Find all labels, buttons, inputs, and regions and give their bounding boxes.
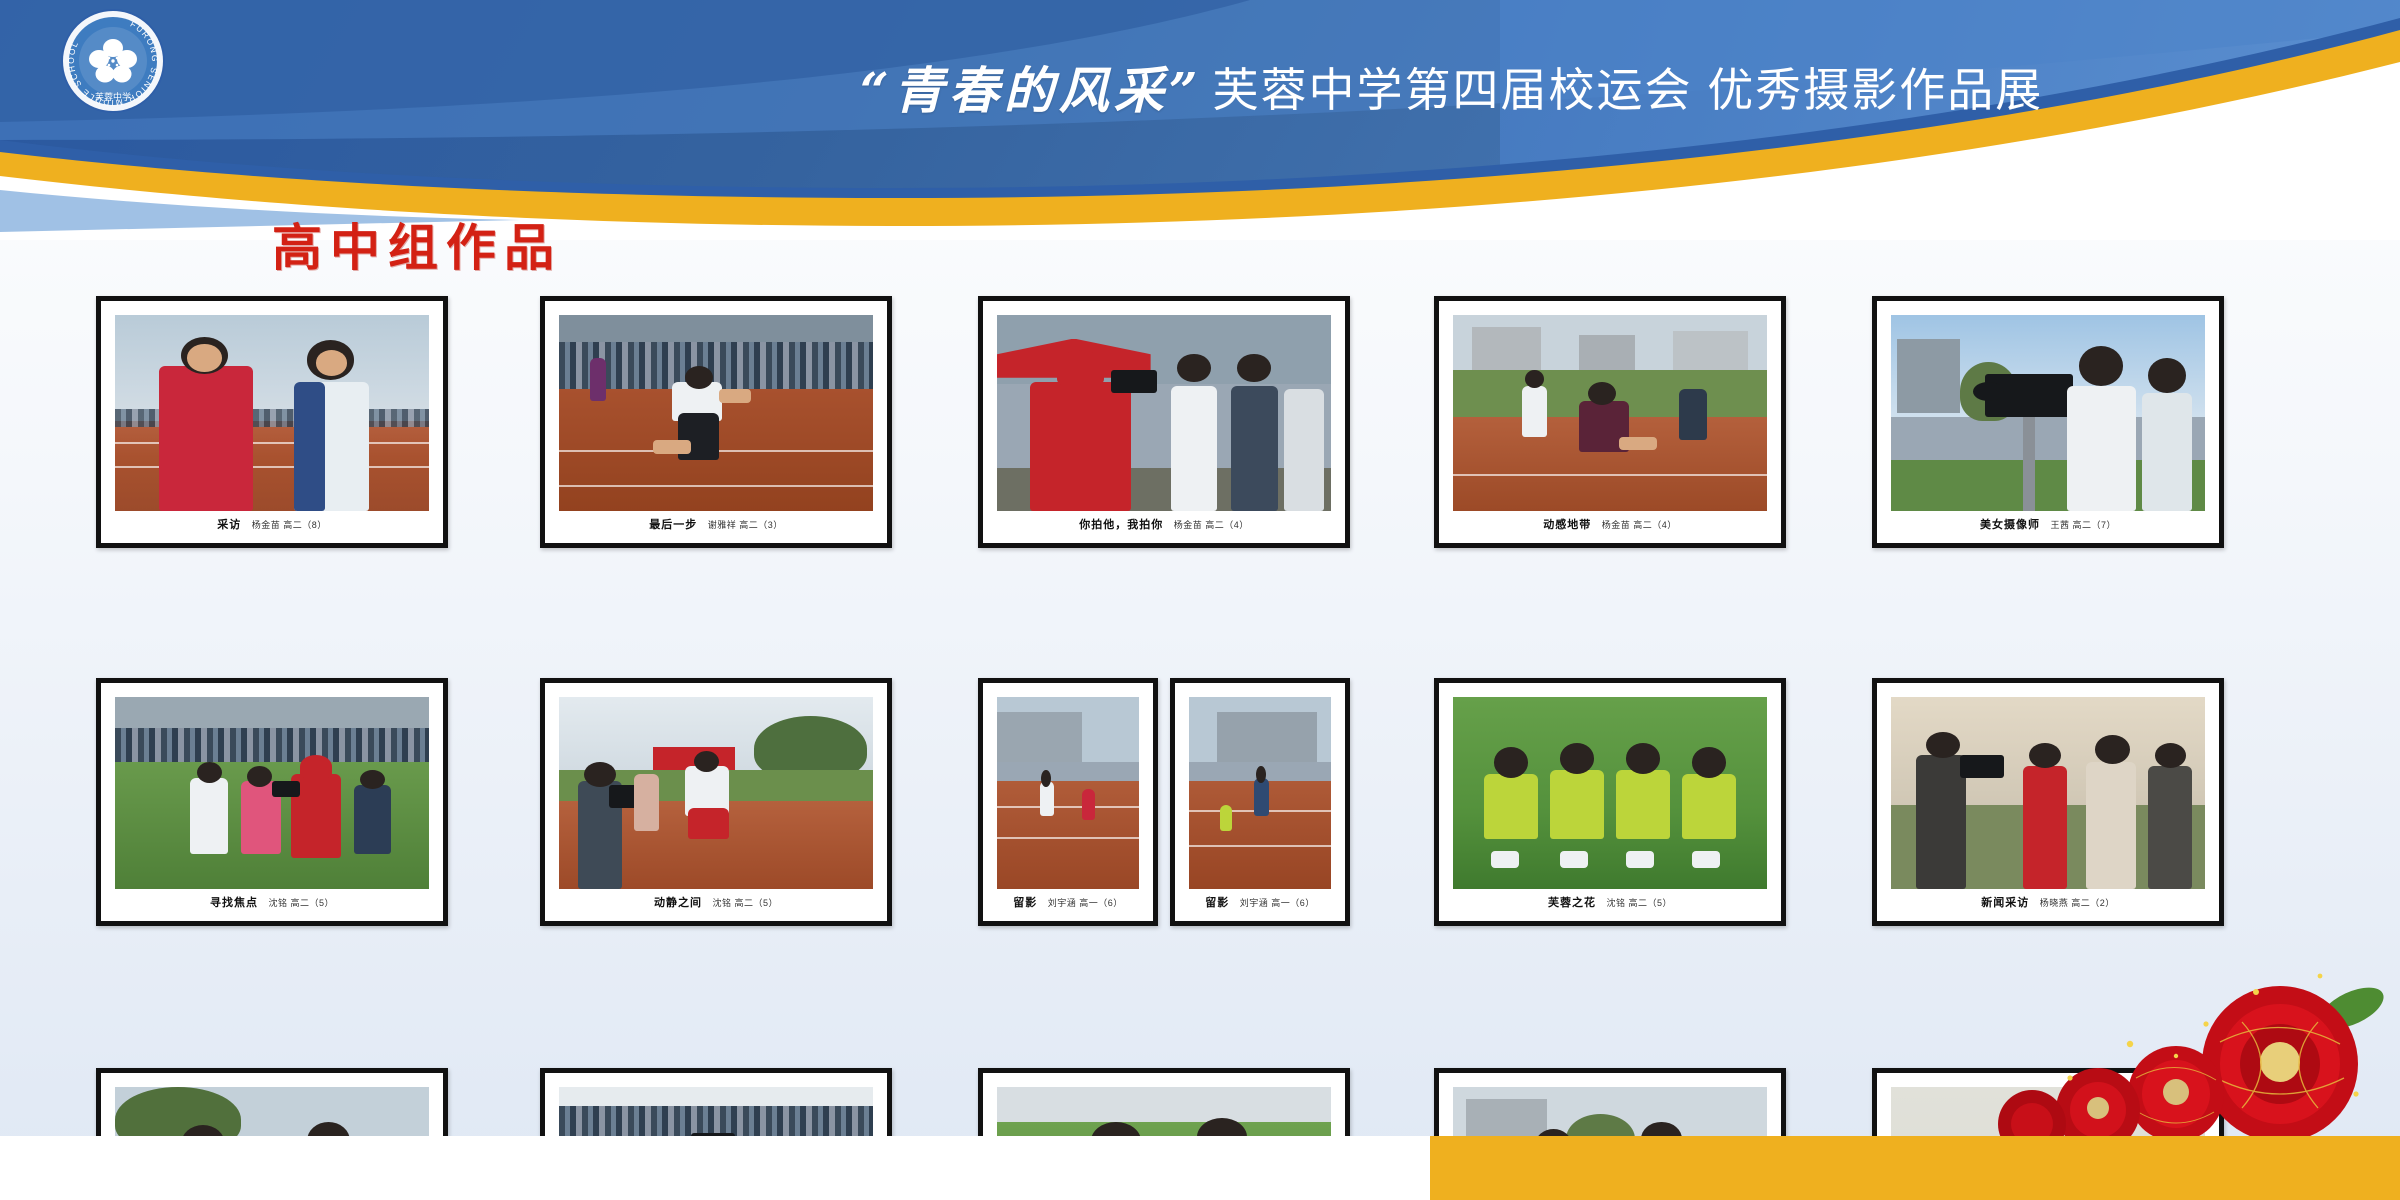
photo-caption: 美女摄像师 王茜 高二（7） (1891, 511, 2205, 537)
caption-author: 杨金苗 高二（8） (252, 520, 327, 530)
caption-author: 杨金苗 高二（4） (1602, 520, 1677, 530)
photo-frame[interactable]: 最后一步 谢雅祥 高二（3） (540, 296, 892, 548)
photo-caption: 动感地带 杨金苗 高二（4） (1453, 511, 1767, 537)
photo-caption: 最后一步 谢雅祥 高二（3） (559, 511, 873, 537)
photo-caption: 你拍他，我拍你 杨金苗 高二（4） (997, 511, 1331, 537)
peony-flower-decoration (1980, 952, 2400, 1142)
photo-frame[interactable]: 你拍他，我拍你 杨金苗 高二（4） (978, 296, 1350, 548)
poster-header: FURONG SENIOR MIDDLE SCHOOL 芙蓉中学 (0, 0, 2400, 240)
photo-row-1: 采访 杨金苗 高二（8） 最后一步 (0, 288, 2400, 588)
photo-caption: 采访 杨金苗 高二（8） (115, 511, 429, 537)
caption-title: 采访 (217, 519, 241, 531)
photo-image (1453, 697, 1767, 889)
photo-image (997, 315, 1331, 511)
photo-image (1891, 697, 2205, 889)
school-logo: FURONG SENIOR MIDDLE SCHOOL 芙蓉中学 (60, 8, 166, 114)
photo-image (559, 697, 873, 889)
photo-frame[interactable]: 采访 杨金苗 高二（8） (96, 296, 448, 548)
photo-frame[interactable]: 动感地带 杨金苗 高二（4） (1434, 296, 1786, 548)
title-main-text: 芙蓉中学第四届校运会 优秀摄影作品展 (1213, 54, 2044, 120)
footer-band (0, 1136, 2400, 1200)
photo-image (1891, 315, 2205, 511)
caption-author: 谢雅祥 高二（3） (708, 520, 783, 530)
photo-row-2: 寻找焦点 沈铭 高二（5） (0, 588, 2400, 888)
footer-gold-segment (1430, 1136, 2400, 1200)
caption-title: 美女摄像师 (1980, 519, 2040, 531)
footer-white-segment (0, 1136, 1430, 1200)
photo-image (997, 697, 1139, 889)
svg-text:芙蓉中学: 芙蓉中学 (95, 91, 131, 103)
title-quoted-text: “青春的风采” (860, 51, 1203, 123)
caption-title: 最后一步 (649, 519, 697, 531)
photo-image (115, 697, 429, 889)
photo-image (115, 315, 429, 511)
header-title: “青春的风采” 芙蓉中学第四届校运会 优秀摄影作品展 (860, 52, 2360, 122)
caption-author: 王茜 高二（7） (2050, 520, 2116, 530)
poster-board: FURONG SENIOR MIDDLE SCHOOL 芙蓉中学 (0, 0, 2400, 1200)
caption-title: 动感地带 (1543, 519, 1591, 531)
photo-image (1189, 697, 1331, 889)
caption-title: 你拍他，我拍你 (1079, 519, 1163, 531)
section-title: 高中组作品 (272, 208, 562, 280)
photo-image (559, 315, 873, 511)
photo-frame[interactable]: 美女摄像师 王茜 高二（7） (1872, 296, 2224, 548)
caption-author: 杨金苗 高二（4） (1174, 520, 1249, 530)
photo-image (1453, 315, 1767, 511)
